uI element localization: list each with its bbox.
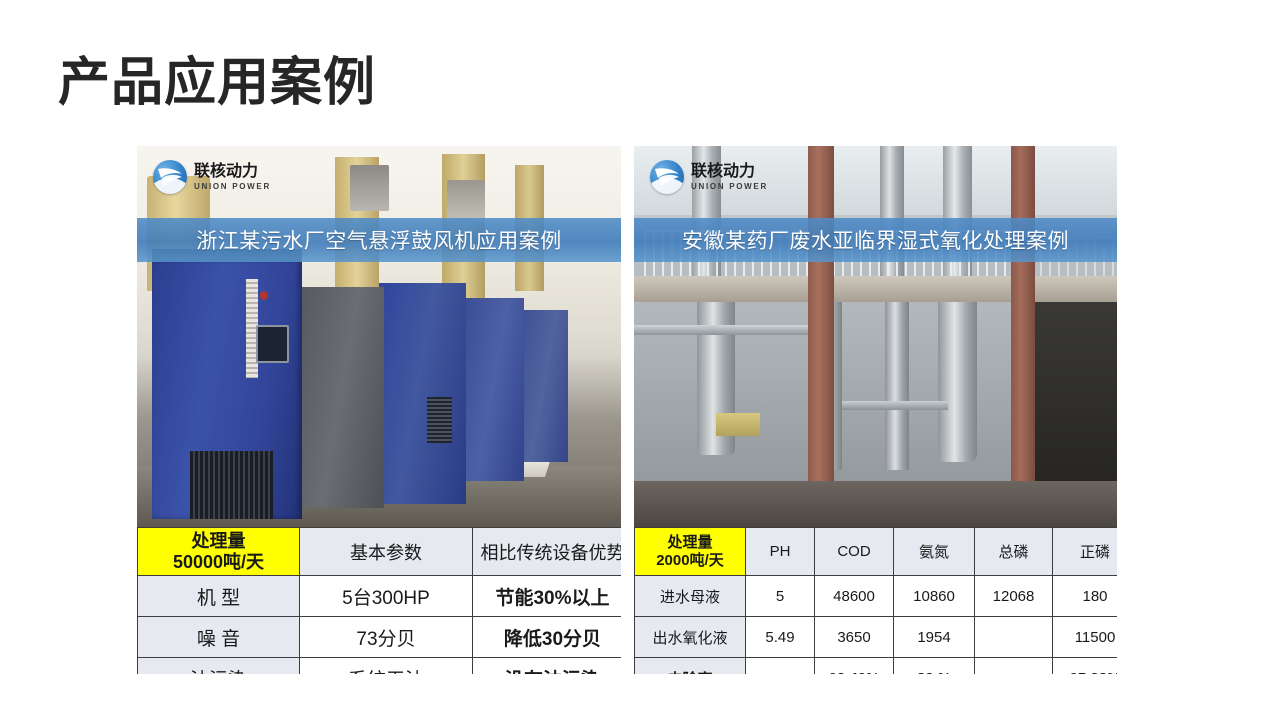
- row-label-noise: 噪 音: [138, 617, 300, 658]
- row-value-noise: 73分贝: [300, 617, 473, 658]
- spec-table-right: 处理量 2000吨/天 PH COD 氨氮 总磷 正磷 进水母液 5 48600…: [634, 527, 1117, 674]
- brand-logo: 联核动力 UNION POWER: [650, 160, 768, 194]
- effluent-ph: 5.49: [746, 617, 815, 658]
- throughput-cell-left: 处理量 50000吨/天: [138, 528, 300, 576]
- brand-logo: 联核动力 UNION POWER: [153, 160, 271, 194]
- influent-ammonia: 10860: [894, 576, 975, 617]
- brand-name-en: UNION POWER: [194, 183, 271, 191]
- influent-total-p: 12068: [975, 576, 1053, 617]
- row-advantage-model: 节能30%以上: [473, 576, 622, 617]
- influent-ph: 5: [746, 576, 815, 617]
- table-header-row: 处理量 50000吨/天 基本参数 相比传统设备优势: [138, 528, 622, 576]
- column-header-total-phosphorus: 总磷: [975, 528, 1053, 576]
- brand-name-cn: 联核动力: [194, 163, 258, 180]
- row-label-model: 机 型: [138, 576, 300, 617]
- case-photo-plant: 联核动力 UNION POWER 安徽某药厂废水亚临界湿式氧化处理案例: [634, 146, 1117, 527]
- column-header-ammonia-nitrogen: 氨氮: [894, 528, 975, 576]
- row-label-influent: 进水母液: [635, 576, 746, 617]
- throughput-label: 处理量: [192, 531, 246, 551]
- column-header-advantage: 相比传统设备优势: [473, 528, 622, 576]
- brand-name-cn: 联核动力: [691, 163, 755, 180]
- page-title: 产品应用案例: [58, 55, 376, 112]
- influent-ortho-p: 180: [1053, 576, 1118, 617]
- spec-table-left: 处理量 50000吨/天 基本参数 相比传统设备优势 机 型 5台300HP 节…: [137, 527, 621, 674]
- throughput-cell-right: 处理量 2000吨/天: [635, 528, 746, 576]
- influent-cod: 48600: [815, 576, 894, 617]
- throughput-label: 处理量: [667, 534, 712, 551]
- row-value-oil: 系统无油: [300, 658, 473, 674]
- table-row: 油污染 系统无油 没有油污染: [138, 658, 622, 674]
- spec-table-wrap-left: 处理量 50000吨/天 基本参数 相比传统设备优势 机 型 5台300HP 节…: [137, 527, 621, 674]
- table-row: 出水氧化液 5.49 3650 1954 11500: [635, 617, 1118, 658]
- brand-name-en: UNION POWER: [691, 183, 768, 191]
- spec-table-wrap-right: 处理量 2000吨/天 PH COD 氨氮 总磷 正磷 进水母液 5 48600…: [634, 527, 1117, 674]
- case-caption-text-right: 安徽某药厂废水亚临界湿式氧化处理案例: [682, 225, 1069, 255]
- union-power-mark-icon: [650, 160, 684, 194]
- effluent-ammonia: 1954: [894, 617, 975, 658]
- case-caption-banner-left: 浙江某污水厂空气悬浮鼓风机应用案例: [137, 218, 621, 262]
- row-label-effluent: 出水氧化液: [635, 617, 746, 658]
- row-value-model: 5台300HP: [300, 576, 473, 617]
- effluent-total-p: [975, 617, 1053, 658]
- throughput-value: 2000吨/天: [656, 552, 724, 569]
- case-caption-banner-right: 安徽某药厂废水亚临界湿式氧化处理案例: [634, 218, 1117, 262]
- column-header-ph: PH: [746, 528, 815, 576]
- row-advantage-noise: 降低30分贝: [473, 617, 622, 658]
- throughput-value: 50000吨/天: [173, 552, 264, 572]
- case-caption-text-left: 浙江某污水厂空气悬浮鼓风机应用案例: [196, 225, 562, 255]
- removal-total-p: [975, 658, 1053, 675]
- table-row: 去除率 92.49% 82 % 95.22%: [635, 658, 1118, 675]
- column-header-cod: COD: [815, 528, 894, 576]
- row-label-removal-rate: 去除率: [635, 658, 746, 675]
- removal-ph: [746, 658, 815, 675]
- column-header-basic-params: 基本参数: [300, 528, 473, 576]
- table-row: 噪 音 73分贝 降低30分贝: [138, 617, 622, 658]
- effluent-ortho-p: 11500: [1053, 617, 1118, 658]
- removal-cod: 92.49%: [815, 658, 894, 675]
- case-photo-blowers: 联核动力 UNION POWER 浙江某污水厂空气悬浮鼓风机应用案例: [137, 146, 621, 527]
- case-panel-left: 联核动力 UNION POWER 浙江某污水厂空气悬浮鼓风机应用案例 处理量 5…: [137, 146, 621, 674]
- table-header-row: 处理量 2000吨/天 PH COD 氨氮 总磷 正磷: [635, 528, 1118, 576]
- union-power-mark-icon: [153, 160, 187, 194]
- case-panel-right: 联核动力 UNION POWER 安徽某药厂废水亚临界湿式氧化处理案例 处理量 …: [634, 146, 1117, 674]
- row-advantage-oil: 没有油污染: [473, 658, 622, 674]
- removal-ammonia: 82 %: [894, 658, 975, 675]
- column-header-ortho-phosphate: 正磷: [1053, 528, 1118, 576]
- effluent-cod: 3650: [815, 617, 894, 658]
- table-row: 进水母液 5 48600 10860 12068 180: [635, 576, 1118, 617]
- row-label-oil: 油污染: [138, 658, 300, 674]
- removal-ortho-p: 95.22%: [1053, 658, 1118, 675]
- table-row: 机 型 5台300HP 节能30%以上: [138, 576, 622, 617]
- slide-root: 产品应用案例: [0, 0, 1280, 720]
